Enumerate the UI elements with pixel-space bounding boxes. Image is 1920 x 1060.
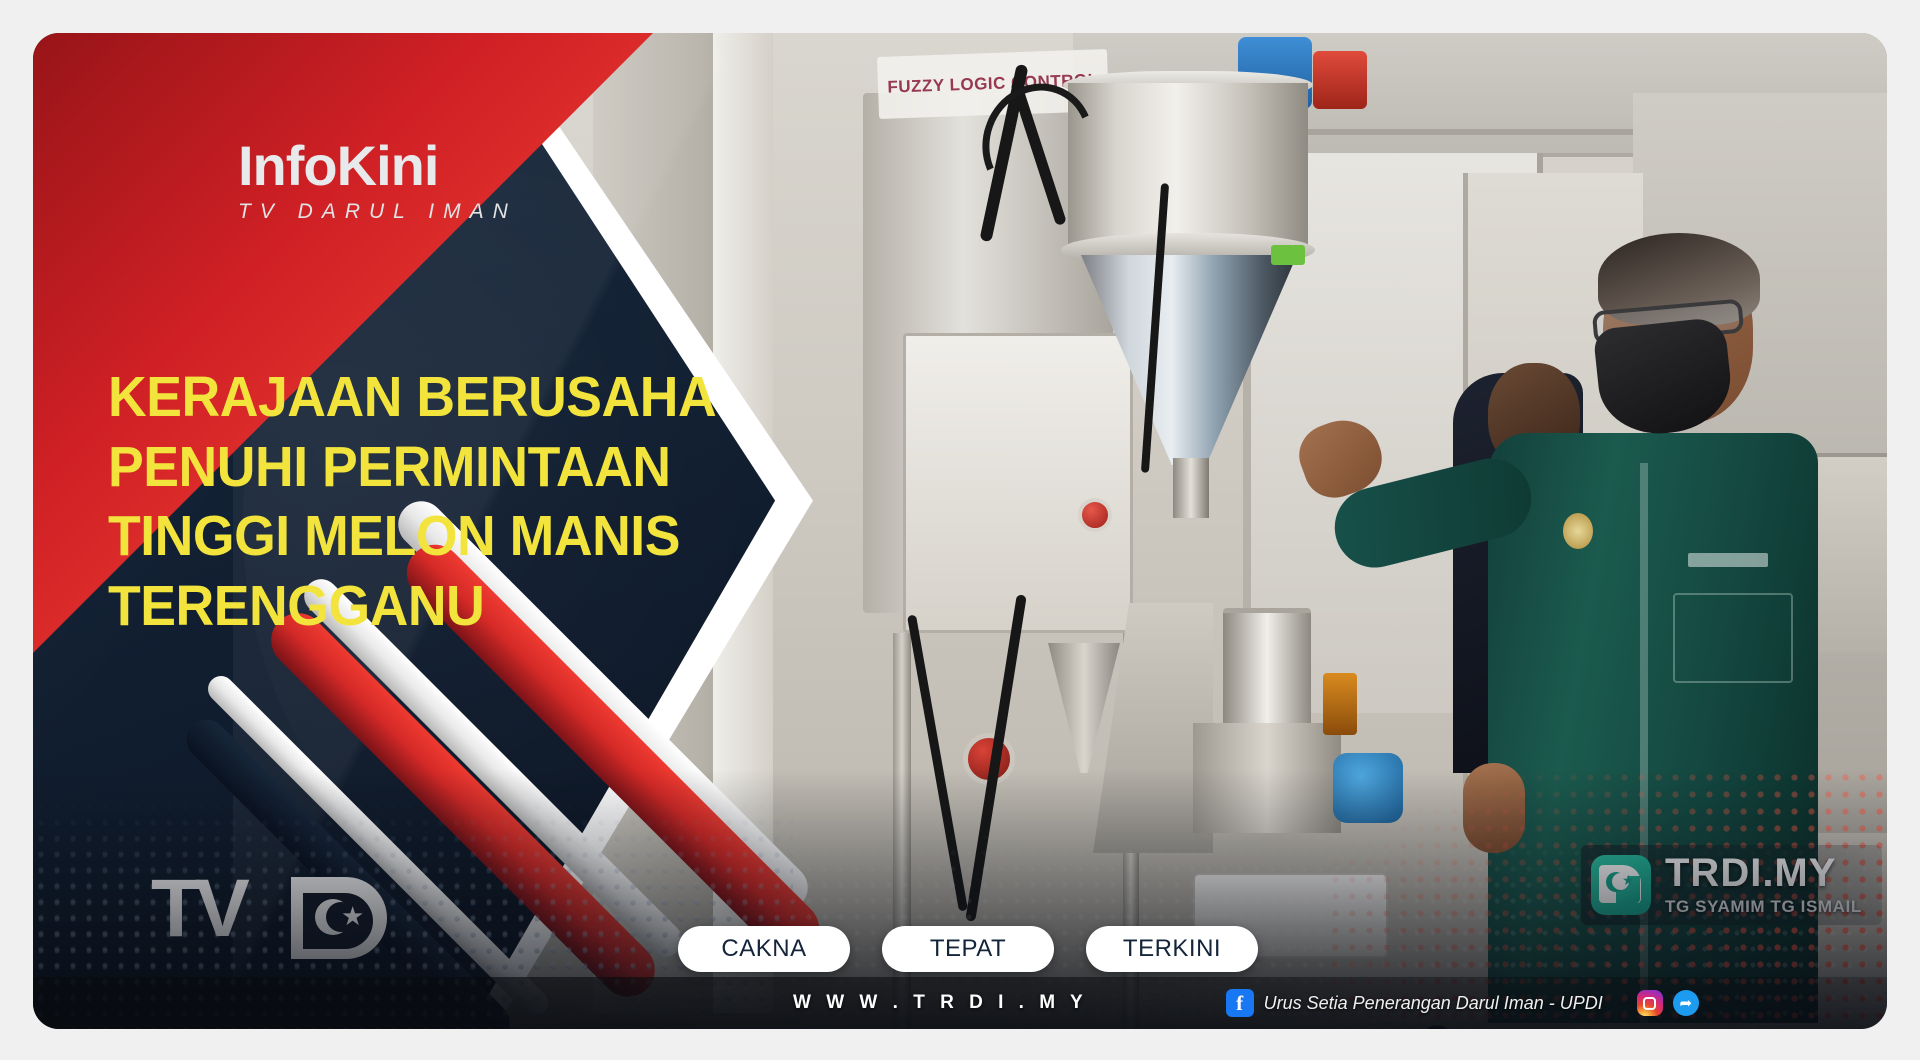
star-icon: ★ bbox=[341, 903, 364, 929]
pill-cakna[interactable]: CAKNA bbox=[678, 926, 850, 972]
tagline-pill-group: CAKNA TEPAT TERKINI bbox=[678, 926, 1258, 972]
facebook-icon[interactable]: f bbox=[1226, 989, 1254, 1017]
headline-line-3: TINGGI MELON MANIS bbox=[108, 502, 710, 572]
headline-line-4: TERENGGANU bbox=[108, 572, 710, 642]
machine-cabinet bbox=[903, 333, 1133, 633]
footer-bar: W W W . T R D I . M Y f Urus Setia Pener… bbox=[33, 977, 1887, 1029]
infokini-subtitle: TV DARUL IMAN bbox=[238, 200, 658, 224]
trdi-watermark-badge: ★ TRDI.MY TG SYAMIM TG ISMAIL bbox=[1581, 845, 1882, 925]
hopper-green-sensor bbox=[1271, 245, 1305, 265]
trdi-credit: TG SYAMIM TG ISMAIL bbox=[1665, 897, 1862, 917]
twitter-icon[interactable]: ➦ bbox=[1673, 990, 1699, 1016]
infokini-logo: InfoKini TV DARUL IMAN bbox=[238, 138, 658, 224]
hopper-drum bbox=[1068, 83, 1308, 253]
trdi-logo-icon: ★ bbox=[1591, 855, 1651, 915]
headline-line-1: KERAJAAN BERUSAHA bbox=[108, 363, 710, 433]
official-name-tag bbox=[1688, 553, 1768, 567]
pill-terkini[interactable]: TERKINI bbox=[1086, 926, 1258, 972]
trdi-star-icon: ★ bbox=[1622, 873, 1635, 887]
diagonal-stripes-right bbox=[1267, 609, 1887, 1029]
trdi-title: TRDI.MY bbox=[1665, 853, 1862, 893]
headline: KERAJAAN BERUSAHA PENUHI PERMINTAAN TING… bbox=[108, 363, 748, 641]
machine-emergency-button bbox=[1078, 498, 1112, 532]
news-lower-third-card: FUZZY LOGIC CONTROL START bbox=[33, 33, 1887, 1029]
footer-facebook-label[interactable]: Urus Setia Penerangan Darul Iman - UPDI bbox=[1264, 993, 1603, 1014]
footer-website[interactable]: W W W . T R D I . M Y bbox=[793, 992, 1088, 1014]
instagram-icon[interactable] bbox=[1637, 990, 1663, 1016]
pill-tepat[interactable]: TEPAT bbox=[882, 926, 1054, 972]
instagram-icon-square bbox=[1643, 997, 1656, 1010]
official-crest-badge bbox=[1563, 513, 1593, 549]
hopper-red-motor bbox=[1313, 51, 1367, 109]
headline-line-2: PENUHI PERMINTAAN bbox=[108, 433, 710, 503]
infokini-title: InfoKini bbox=[238, 138, 658, 194]
hopper-neck bbox=[1173, 458, 1209, 518]
trdi-text-block: TRDI.MY TG SYAMIM TG ISMAIL bbox=[1665, 853, 1862, 917]
tvdi-station-logo: TV ★ bbox=[151, 871, 381, 963]
